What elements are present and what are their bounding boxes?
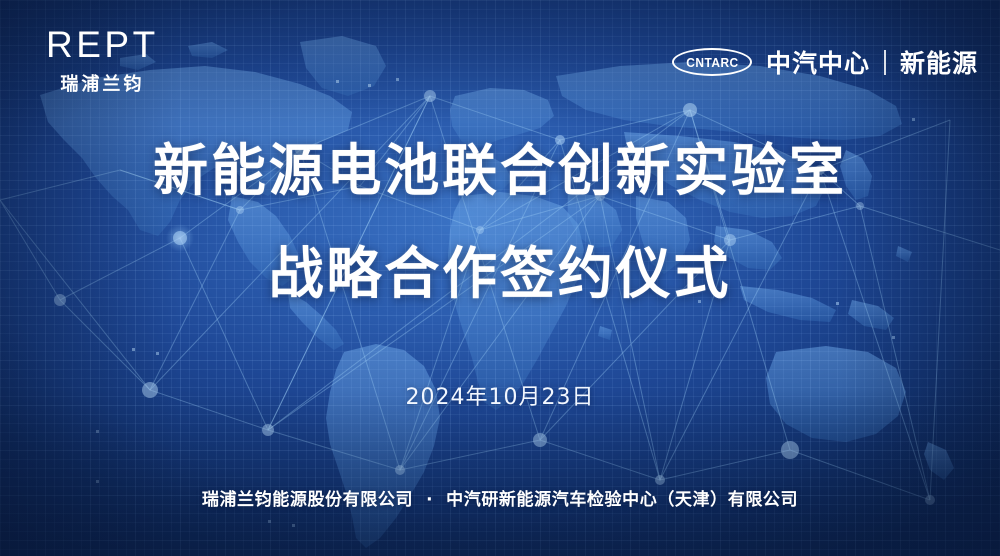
cntarc-org-name: 中汽中心 [766,44,870,80]
event-date: 2024年10月23日 [0,379,1000,411]
page-title-line-1: 新能源电池联合创新实验室 [10,139,990,205]
page-title-line-2: 战略合作签约仪式 [10,242,990,308]
footer-separator: · [413,490,446,510]
rept-wordmark: REPT [46,26,159,63]
logo-divider [884,50,886,75]
cntarc-badge-icon: CNTARC [672,48,752,76]
footer-party-a: 瑞浦兰钧能源股份有限公司 [202,490,413,510]
rept-logo: REPT 瑞浦兰钧 [46,26,159,96]
cntarc-division-name: 新能源 [900,44,978,80]
cntarc-badge-text: CNTARC [686,55,738,70]
footer-party-b: 中汽研新能源汽车检验中心（天津）有限公司 [446,490,798,510]
footer-parties: 瑞浦兰钧能源股份有限公司·中汽研新能源汽车检验中心（天津）有限公司 [0,485,1000,510]
cntarc-logo: CNTARC 中汽中心 新能源 [672,44,978,80]
presentation-slide: REPT 瑞浦兰钧 CNTARC 中汽中心 新能源 新能源电池联合创新实验室 战… [0,0,1000,556]
rept-chinese-name: 瑞浦兰钧 [60,70,144,96]
